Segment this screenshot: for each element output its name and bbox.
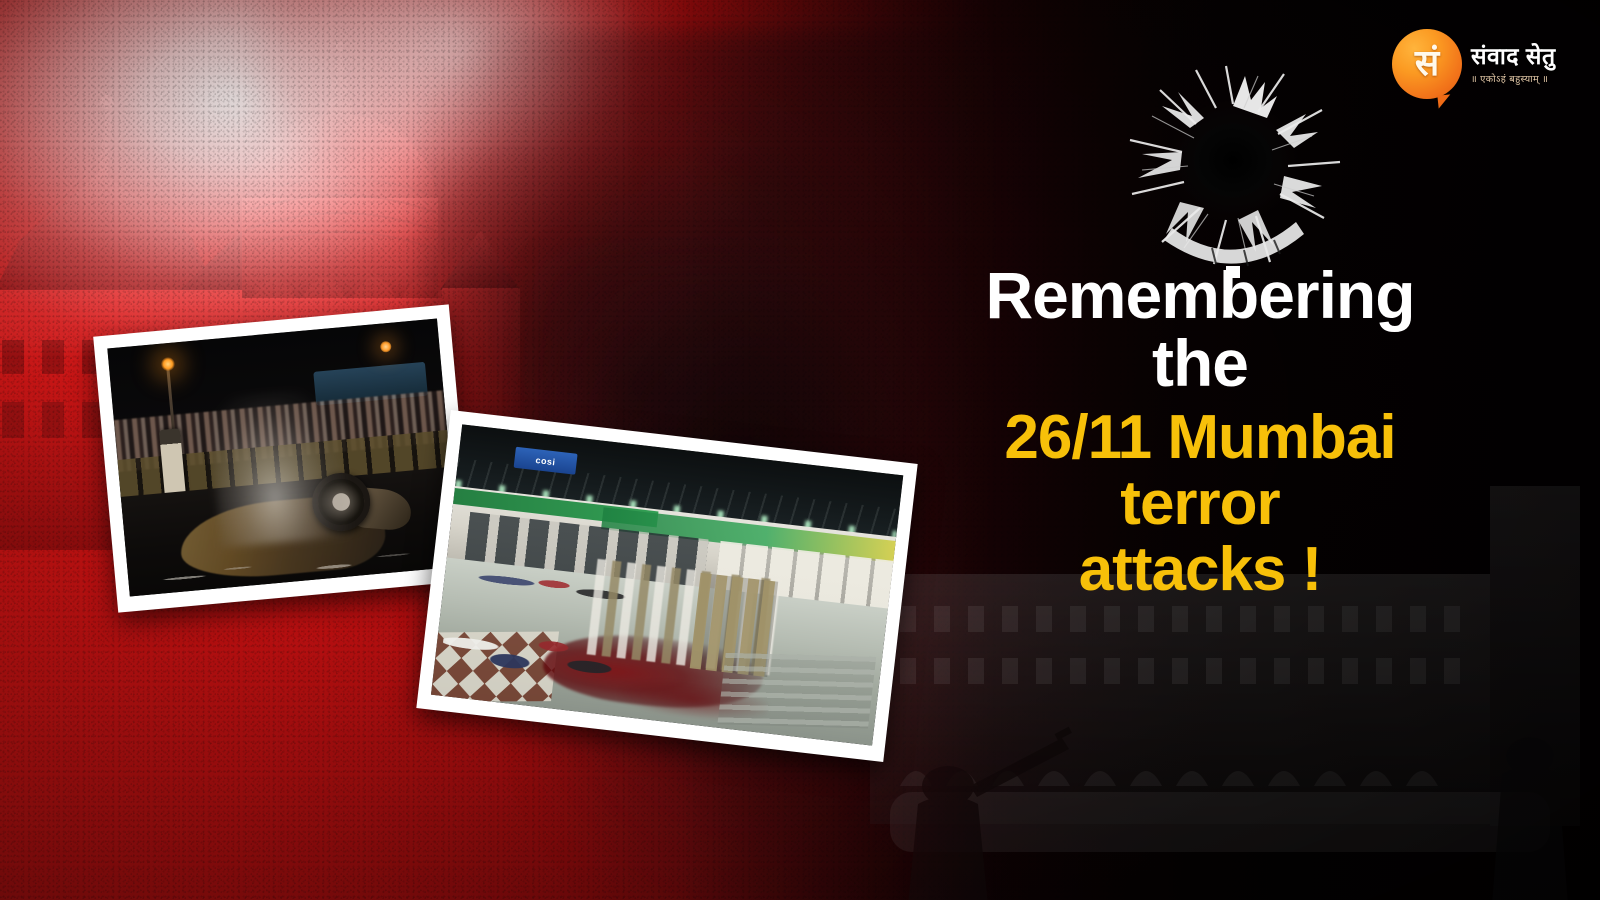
photo-street-blast-image [107,319,459,597]
logo-mark-glyph: सं [1415,45,1439,81]
brand-logo[interactable]: सं संवाद सेतु ॥ एकोऽहं बहुस्याम् ॥ [1392,16,1588,112]
headline-line-3: 26/11 Mumbai [880,406,1520,470]
photo-cst-station[interactable]: cosi [416,410,917,762]
headline-line-4: terror [880,472,1520,536]
poster-canvas: सं संवाद सेतु ॥ एकोऽहं बहुस्याम् ॥ Remem… [0,0,1600,900]
logo-wordmark: संवाद सेतु ॥ एकोऽहं बहुस्याम् ॥ [1471,44,1556,84]
logo-brand-name: संवाद सेतु [1471,44,1556,69]
bullet-hole-icon [1108,58,1358,278]
photo-cst-station-image: cosi [431,424,903,745]
logo-speech-bubble-icon: सं [1392,29,1462,99]
headline-line-1: Remembering [880,262,1520,330]
headline-line-5: attacks ! [880,538,1520,602]
page-title: Remembering the 26/11 Mumbai terror atta… [880,262,1520,602]
photo-street-blast[interactable] [93,304,474,612]
headline-line-2: the [880,330,1520,398]
logo-tagline: ॥ एकोऽहं बहुस्याम् ॥ [1471,75,1556,85]
